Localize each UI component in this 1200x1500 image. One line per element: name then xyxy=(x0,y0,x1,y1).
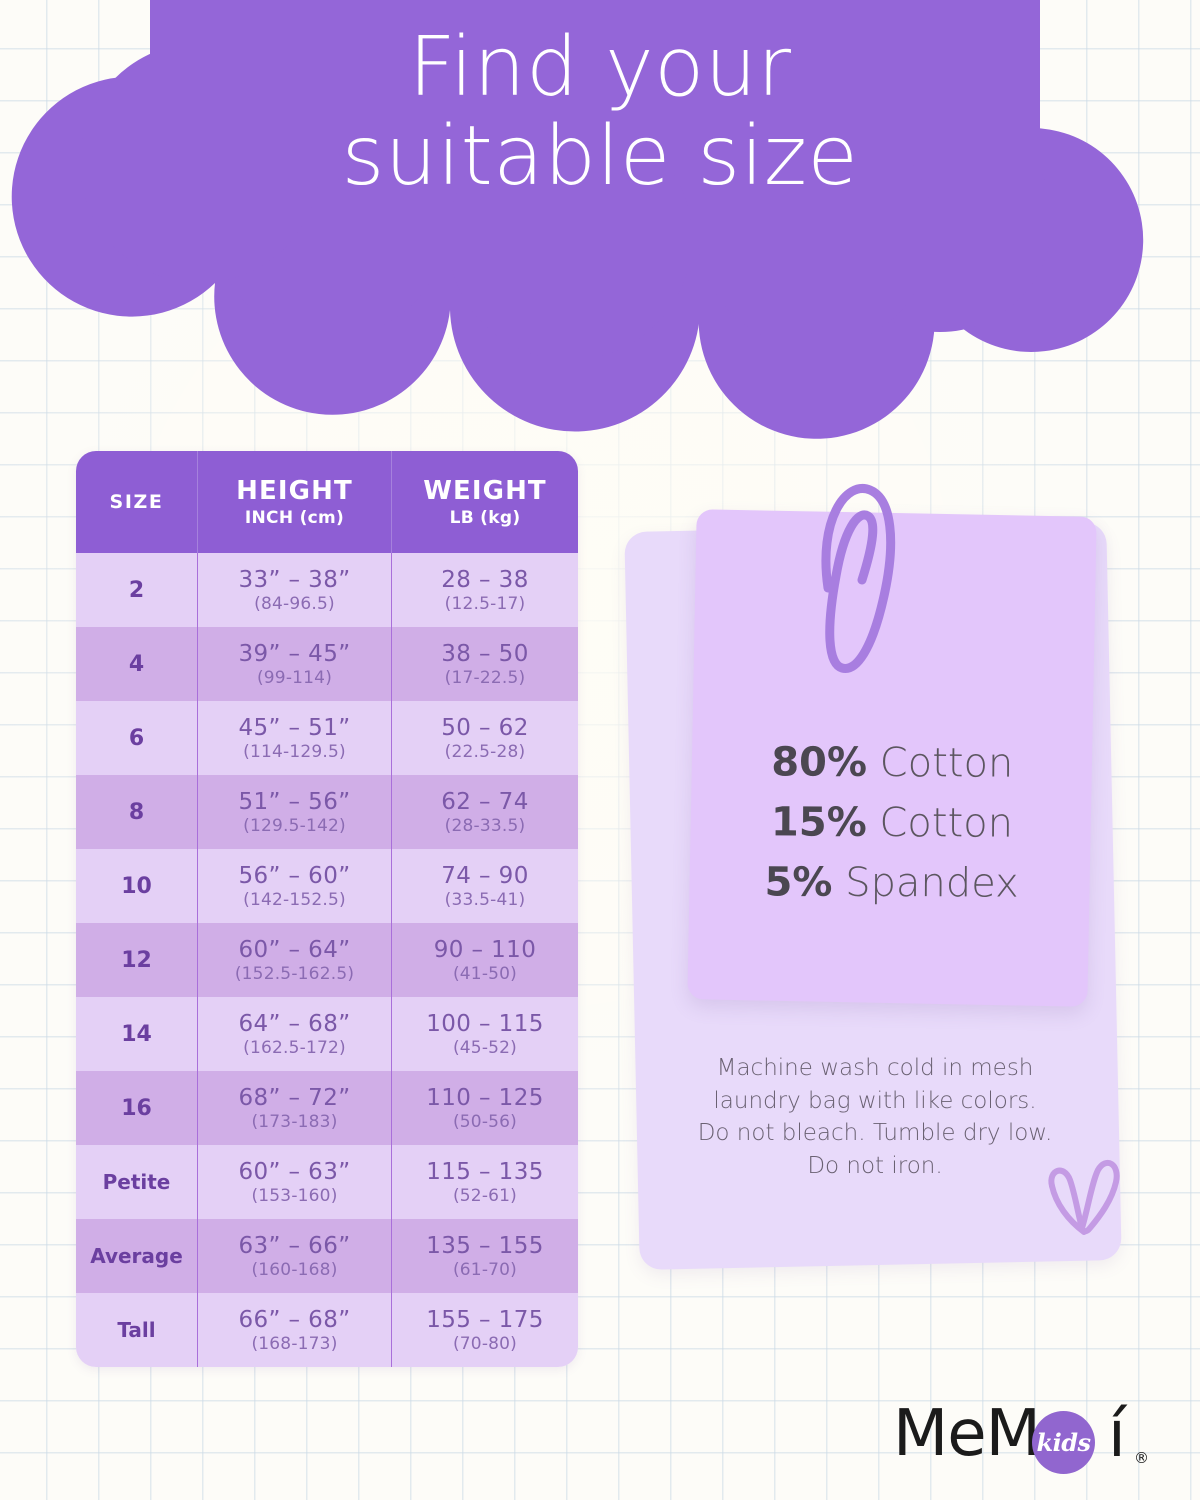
table-row: 645” – 51”(114-129.5)50 – 62(22.5-28) xyxy=(76,701,578,775)
cell-height: 60” – 64”(152.5-162.5) xyxy=(198,923,392,997)
cell-size: 10 xyxy=(76,849,198,923)
cell-size: 8 xyxy=(76,775,198,849)
cell-size: 12 xyxy=(76,923,198,997)
composition-percent: 5% xyxy=(764,859,832,905)
cell-size: 4 xyxy=(76,627,198,701)
infographic-page: Find your suitable size SIZE HEIGHT INCH… xyxy=(0,0,1200,1500)
cell-height: 64” – 68”(162.5-172) xyxy=(198,997,392,1071)
cell-height: 39” – 45”(99-114) xyxy=(198,627,392,701)
kids-badge: kids xyxy=(1032,1411,1095,1474)
table-row: 1260” – 64”(152.5-162.5)90 – 110(41-50) xyxy=(76,923,578,997)
table-header-row: SIZE HEIGHT INCH (cm) WEIGHT LB (kg) xyxy=(76,451,578,553)
composition-material: Cotton xyxy=(879,800,1013,847)
column-header-height: HEIGHT INCH (cm) xyxy=(198,451,392,553)
cell-weight: 90 – 110(41-50) xyxy=(392,923,578,997)
cell-weight: 38 – 50(17-22.5) xyxy=(392,627,578,701)
cell-height: 66” – 68”(168-173) xyxy=(198,1293,392,1367)
heart-doodle-icon xyxy=(1038,1152,1130,1252)
composition-line: 80% Cotton xyxy=(692,732,1092,794)
table-row: 1668” – 72”(173-183)110 – 125(50-56) xyxy=(76,1071,578,1145)
cell-size: 16 xyxy=(76,1071,198,1145)
kids-badge-label: kids xyxy=(1036,1428,1090,1457)
composition-line: 5% Spandex xyxy=(692,852,1092,914)
cell-weight: 110 – 125(50-56) xyxy=(392,1071,578,1145)
care-instructions: Machine wash cold in mesh laundry bag wi… xyxy=(650,1052,1100,1183)
cell-height: 68” – 72”(173-183) xyxy=(198,1071,392,1145)
cell-size: 2 xyxy=(76,553,198,627)
cell-weight: 155 – 175(70-80) xyxy=(392,1293,578,1367)
cell-height: 51” – 56”(129.5-142) xyxy=(198,775,392,849)
cell-weight: 62 – 74(28-33.5) xyxy=(392,775,578,849)
column-header-size: SIZE xyxy=(76,451,198,553)
paperclip-icon xyxy=(800,468,910,698)
cell-size: Petite xyxy=(76,1145,198,1219)
size-chart-table: SIZE HEIGHT INCH (cm) WEIGHT LB (kg) 233… xyxy=(76,451,578,1367)
cell-height: 56” – 60”(142-152.5) xyxy=(198,849,392,923)
page-title: Find your suitable size xyxy=(0,24,1200,201)
table-row: 1056” – 60”(142-152.5)74 – 90(33.5-41) xyxy=(76,849,578,923)
composition-material: Spandex xyxy=(845,860,1019,907)
composition-material: Cotton xyxy=(880,740,1014,787)
cell-weight: 115 – 135(52-61) xyxy=(392,1145,578,1219)
cell-size: 6 xyxy=(76,701,198,775)
table-row: 1464” – 68”(162.5-172)100 – 115(45-52) xyxy=(76,997,578,1071)
brand-logo: MeM kids í ® xyxy=(893,1391,1153,1477)
table-row: Average63” – 66”(160-168)135 – 155(61-70… xyxy=(76,1219,578,1293)
table-row: 851” – 56”(129.5-142)62 – 74(28-33.5) xyxy=(76,775,578,849)
cell-size: Average xyxy=(76,1219,198,1293)
cell-height: 33” – 38”(84-96.5) xyxy=(198,553,392,627)
cell-height: 63” – 66”(160-168) xyxy=(198,1219,392,1293)
column-header-weight: WEIGHT LB (kg) xyxy=(392,451,578,553)
composition-percent: 80% xyxy=(771,739,867,786)
logo-accent-letter: í xyxy=(1108,1403,1126,1467)
fabric-composition: 80% Cotton 15% Cotton 5% Spandex xyxy=(692,732,1093,914)
cell-size: 14 xyxy=(76,997,198,1071)
composition-percent: 15% xyxy=(771,799,867,846)
cell-height: 45” – 51”(114-129.5) xyxy=(198,701,392,775)
table-row: Petite60” – 63”(153-160)115 – 135(52-61) xyxy=(76,1145,578,1219)
composition-line: 15% Cotton xyxy=(692,792,1092,854)
table-row: 439” – 45”(99-114)38 – 50(17-22.5) xyxy=(76,627,578,701)
cell-weight: 100 – 115(45-52) xyxy=(392,997,578,1071)
cell-weight: 50 – 62(22.5-28) xyxy=(392,701,578,775)
table-row: Tall66” – 68”(168-173)155 – 175(70-80) xyxy=(76,1293,578,1367)
cell-weight: 135 – 155(61-70) xyxy=(392,1219,578,1293)
cell-height: 60” – 63”(153-160) xyxy=(198,1145,392,1219)
cell-weight: 74 – 90(33.5-41) xyxy=(392,849,578,923)
cell-size: Tall xyxy=(76,1293,198,1367)
table-row: 233” – 38”(84-96.5)28 – 38(12.5-17) xyxy=(76,553,578,627)
trademark-symbol: ® xyxy=(1134,1449,1149,1467)
cell-weight: 28 – 38(12.5-17) xyxy=(392,553,578,627)
logo-wordmark: MeM xyxy=(893,1402,1040,1466)
